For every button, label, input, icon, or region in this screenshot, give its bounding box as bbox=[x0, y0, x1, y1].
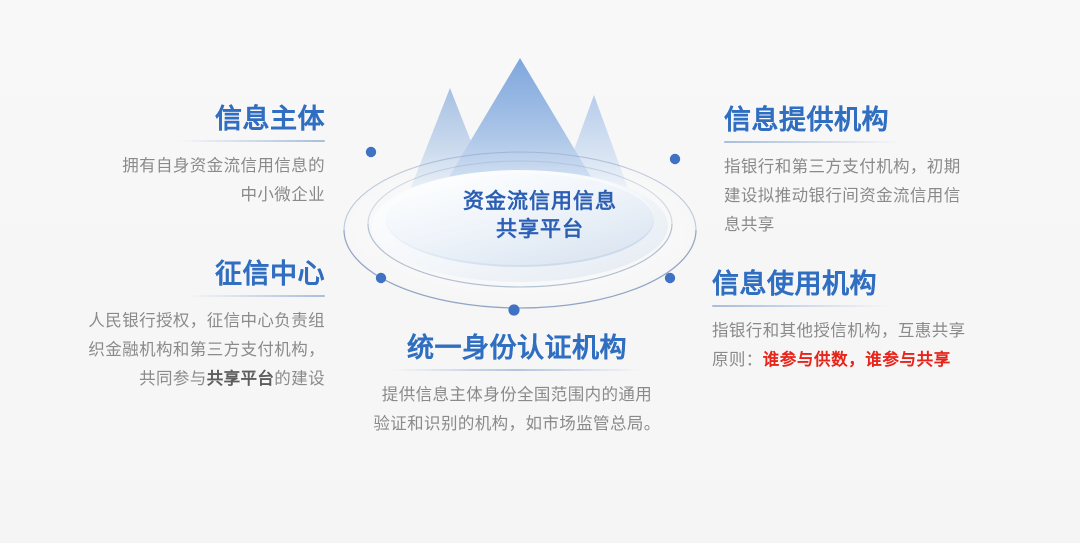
infographic-canvas: 资金流信用信息 共享平台 信息主体 拥有自身资金流信用信息的 中小微企业 征信中… bbox=[0, 0, 1080, 543]
heading-divider bbox=[724, 141, 902, 143]
mountains-platform-orbit-icon bbox=[300, 30, 740, 340]
block-info-subject-body: 拥有自身资金流信用信息的 中小微企业 bbox=[20, 151, 325, 209]
block-info-user-body: 指银行和其他授信机构，互惠共享 原则：谁参与供数，谁参与共享 bbox=[712, 316, 1052, 374]
body-line: 息共享 bbox=[724, 210, 1044, 239]
body-line: 拥有自身资金流信用信息的 bbox=[20, 151, 325, 180]
body-line: 原则：谁参与供数，谁参与共享 bbox=[712, 345, 1052, 374]
heading-divider bbox=[392, 369, 642, 371]
body-line: 建设拟推动银行间资金流信用信 bbox=[724, 181, 1044, 210]
body-line: 共同参与共享平台的建设 bbox=[8, 364, 325, 393]
body-text: 原则： bbox=[712, 350, 763, 369]
block-info-user-heading: 信息使用机构 bbox=[712, 268, 1052, 300]
heading-divider bbox=[177, 140, 325, 142]
body-line: 指银行和第三方支付机构，初期 bbox=[724, 152, 1044, 181]
body-emphasis: 共享平台 bbox=[207, 369, 275, 388]
block-credit-center: 征信中心 人民银行授权，征信中心负责组 织金融机构和第三方支付机构， 共同参与共… bbox=[8, 258, 325, 393]
body-line: 提供信息主体身份全国范围内的通用 bbox=[339, 380, 695, 409]
heading-divider bbox=[185, 295, 325, 297]
body-text: 共同参与 bbox=[139, 369, 207, 388]
block-credit-center-body: 人民银行授权，征信中心负责组 织金融机构和第三方支付机构， 共同参与共享平台的建… bbox=[8, 306, 325, 393]
block-identity-auth: 统一身份认证机构 提供信息主体身份全国范围内的通用 验证和识别的机构，如市场监管… bbox=[339, 332, 695, 438]
body-line: 织金融机构和第三方支付机构， bbox=[8, 335, 325, 364]
body-line: 人民银行授权，征信中心负责组 bbox=[8, 306, 325, 335]
body-line: 验证和识别的机构，如市场监管总局。 bbox=[339, 409, 695, 438]
body-text: 的建设 bbox=[274, 369, 325, 388]
block-info-provider: 信息提供机构 指银行和第三方支付机构，初期 建设拟推动银行间资金流信用信 息共享 bbox=[724, 104, 1044, 239]
block-identity-auth-body: 提供信息主体身份全国范围内的通用 验证和识别的机构，如市场监管总局。 bbox=[339, 380, 695, 438]
block-info-provider-heading: 信息提供机构 bbox=[724, 104, 1044, 136]
block-identity-auth-heading: 统一身份认证机构 bbox=[339, 332, 695, 364]
block-info-provider-body: 指银行和第三方支付机构，初期 建设拟推动银行间资金流信用信 息共享 bbox=[724, 152, 1044, 239]
body-accent-red: 谁参与供数，谁参与共享 bbox=[763, 350, 951, 369]
block-info-subject: 信息主体 拥有自身资金流信用信息的 中小微企业 bbox=[20, 103, 325, 209]
heading-divider bbox=[712, 305, 890, 307]
block-info-user: 信息使用机构 指银行和其他授信机构，互惠共享 原则：谁参与供数，谁参与共享 bbox=[712, 268, 1052, 374]
block-credit-center-heading: 征信中心 bbox=[8, 258, 325, 290]
body-line: 指银行和其他授信机构，互惠共享 bbox=[712, 316, 1052, 345]
block-info-subject-heading: 信息主体 bbox=[20, 103, 325, 135]
body-line: 中小微企业 bbox=[20, 180, 325, 209]
